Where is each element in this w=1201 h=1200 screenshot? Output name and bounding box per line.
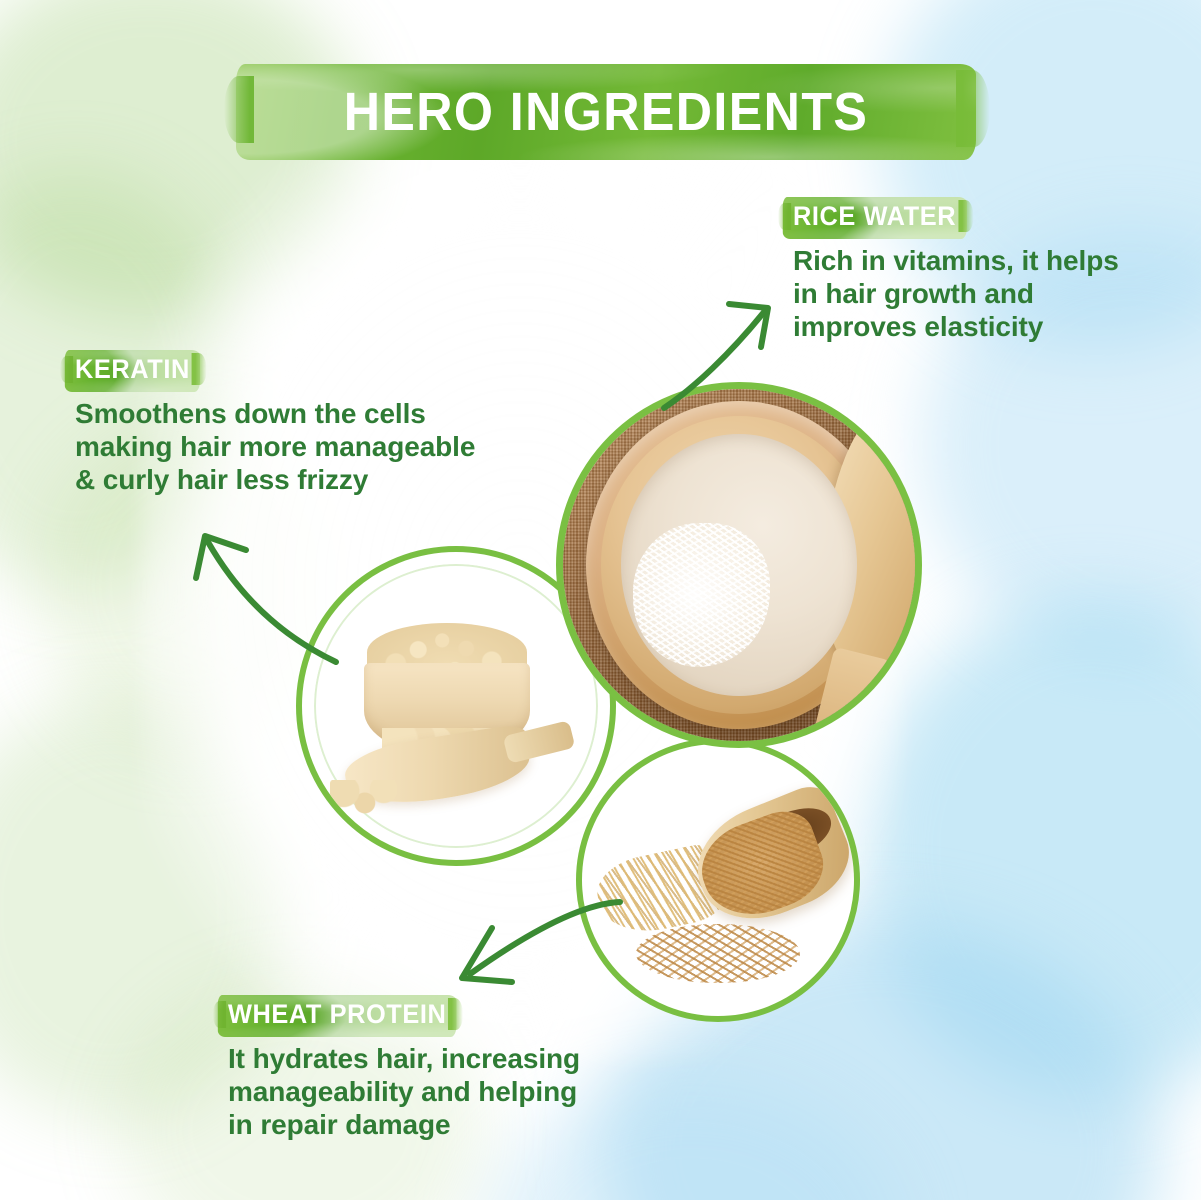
page-title: HERO INGREDIENTS <box>236 64 976 160</box>
curved-arrow-up-left-icon <box>184 516 344 666</box>
ingredient-label-keratin: KERATIN <box>75 356 190 383</box>
green-wash-1 <box>0 0 360 320</box>
rice-water-artwork <box>557 383 921 747</box>
ingredient-image-rice-water <box>556 382 922 748</box>
rice-grains <box>633 523 770 667</box>
ingredient-name: KERATIN <box>75 354 190 384</box>
ingredient-label-rice-water: RICE WATER <box>793 203 956 230</box>
ingredient-text-rice-water: RICE WATER Rich in vitamins, it helps in… <box>793 203 1193 343</box>
ingredient-name: RICE WATER <box>793 201 956 231</box>
spilled-wheat-grains <box>636 924 799 984</box>
ingredient-description: It hydrates hair, increasing manageabili… <box>228 1042 658 1141</box>
ingredient-name: WHEAT PROTEIN <box>228 999 446 1029</box>
ingredient-description: Rich in vitamins, it helps in hair growt… <box>793 244 1193 343</box>
rice-water-liquid <box>621 434 858 696</box>
curved-arrow-down-left-icon <box>430 896 630 1006</box>
ingredient-label-wheat-protein: WHEAT PROTEIN <box>228 1001 446 1028</box>
ingredient-description: Smoothens down the cells making hair mor… <box>75 397 565 496</box>
ingredient-text-keratin: KERATIN Smoothens down the cells making … <box>75 356 565 496</box>
curved-arrow-up-right-icon <box>660 268 820 418</box>
hero-ingredients-infographic: HERO INGREDIENTS <box>0 0 1201 1200</box>
ingredient-text-wheat-protein: WHEAT PROTEIN It hydrates hair, increasi… <box>228 1001 658 1141</box>
loose-soybeans <box>330 780 398 817</box>
page-title-text: HERO INGREDIENTS <box>262 64 950 160</box>
